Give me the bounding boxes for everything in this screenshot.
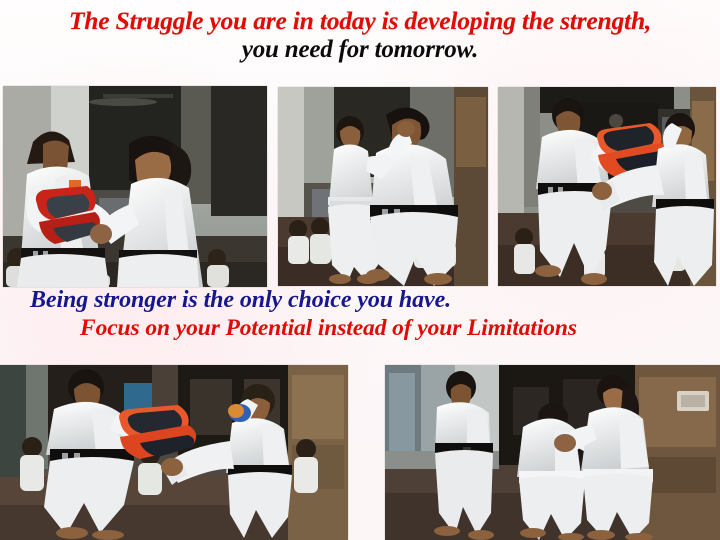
photo-girl-performing-high-kick-at-pad xyxy=(498,87,716,286)
top-quote: The Struggle you are in today is develop… xyxy=(0,8,720,63)
top-quote-line-1: The Struggle you are in today is develop… xyxy=(0,8,720,35)
photo-1-scene xyxy=(3,86,267,287)
photo-boy-performing-front-kick-at-pad xyxy=(0,365,348,540)
middle-quote-line-1: Being stronger is the only choice you ha… xyxy=(0,288,720,313)
middle-quote: Being stronger is the only choice you ha… xyxy=(0,288,720,341)
photo-5-scene xyxy=(385,365,720,540)
photo-partner-drill-two-female-students xyxy=(385,365,720,540)
middle-quote-line-2: Focus on your Potential instead of your … xyxy=(0,316,720,341)
photo-instructor-demonstrating-block-with-boy xyxy=(278,87,488,286)
photo-3-scene xyxy=(498,87,716,286)
photo-instructor-holding-kick-pad-for-female-student xyxy=(3,86,267,287)
photo-4-scene xyxy=(0,365,348,540)
photo-2-scene xyxy=(278,87,488,286)
top-quote-line-2: you need for tomorrow. xyxy=(0,37,720,63)
poster-canvas: The Struggle you are in today is develop… xyxy=(0,0,720,540)
